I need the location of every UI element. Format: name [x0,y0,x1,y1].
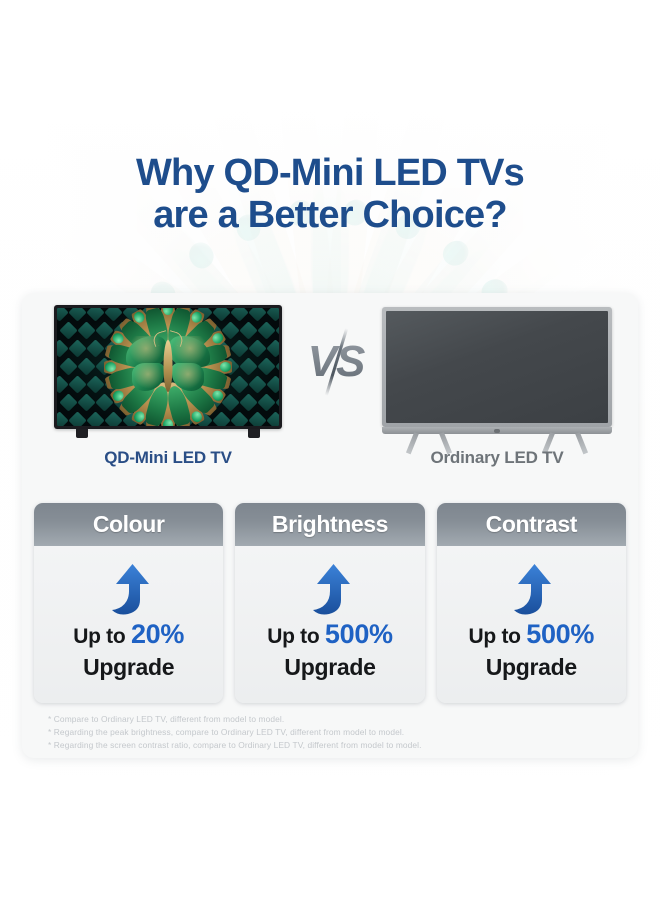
headline-line-2: are a Better Choice? [0,194,660,236]
ordinary-tv-led-indicator [494,429,500,433]
metric-card: BrightnessUp to 500%Upgrade [235,503,424,703]
metric-suffix: Upgrade [437,653,626,681]
metric-prefix: Up to [267,625,325,648]
metric-prefix: Up to [469,625,527,648]
metric-card-value: Up to 500%Upgrade [235,620,424,681]
footnote-list: * Compare to Ordinary LED TV, different … [48,713,608,751]
headline-line-1: Why QD-Mini LED TVs [136,152,524,194]
butterfly-icon [125,334,211,400]
versus-label: VS [301,331,371,393]
qd-mini-tv-frame [54,305,282,429]
metric-number: 500% [325,619,393,649]
metric-suffix: Upgrade [34,653,223,681]
page-title: Why QD-Mini LED TVs are a Better Choice? [0,152,660,236]
qd-mini-tv-caption: QD-Mini LED TV [54,448,282,468]
ordinary-tv-frame [382,307,612,427]
versus-badge: VS [301,331,371,393]
metric-number: 500% [526,619,594,649]
metric-prefix: Up to [73,625,131,648]
footnote-item: * Regarding the screen contrast ratio, c… [48,739,608,752]
metric-card: ColourUp to 20%Upgrade [34,503,223,703]
tv-comparison-row: VS QD-Mini LED TV Ordinary LED TV [22,293,638,483]
footnote-item: * Regarding the peak brightness, compare… [48,726,608,739]
butterfly-body [164,340,173,392]
qd-mini-tv-feet [54,429,282,439]
up-arrow-icon [106,562,152,616]
butterfly-wing [172,363,204,391]
metric-card-title: Brightness [235,503,424,546]
metric-card-list: ColourUp to 20%UpgradeBrightnessUp to 50… [34,503,626,703]
up-arrow-icon [508,562,554,616]
metric-card-value: Up to 500%Upgrade [437,620,626,681]
metric-card-body: Up to 500%Upgrade [437,546,626,703]
metric-card-body: Up to 500%Upgrade [235,546,424,703]
butterfly-wing [132,363,164,391]
up-arrow-icon [307,562,353,616]
metric-card-value: Up to 20%Upgrade [34,620,223,681]
qd-mini-tv-screen [57,308,279,426]
promo-banner: Why QD-Mini LED TVs are a Better Choice? [0,0,660,900]
comparison-panel: VS QD-Mini LED TV Ordinary LED TV Colour… [22,293,638,758]
metric-card-title: Contrast [437,503,626,546]
metric-card-body: Up to 20%Upgrade [34,546,223,703]
ordinary-tv-screen [386,311,608,423]
metric-card-title: Colour [34,503,223,546]
background-fade-bottom [0,770,660,778]
footnote-item: * Compare to Ordinary LED TV, different … [48,713,608,726]
metric-suffix: Upgrade [235,653,424,681]
ordinary-tv-caption: Ordinary LED TV [382,448,612,468]
metric-card: ContrastUp to 500%Upgrade [437,503,626,703]
metric-number: 20% [131,619,184,649]
